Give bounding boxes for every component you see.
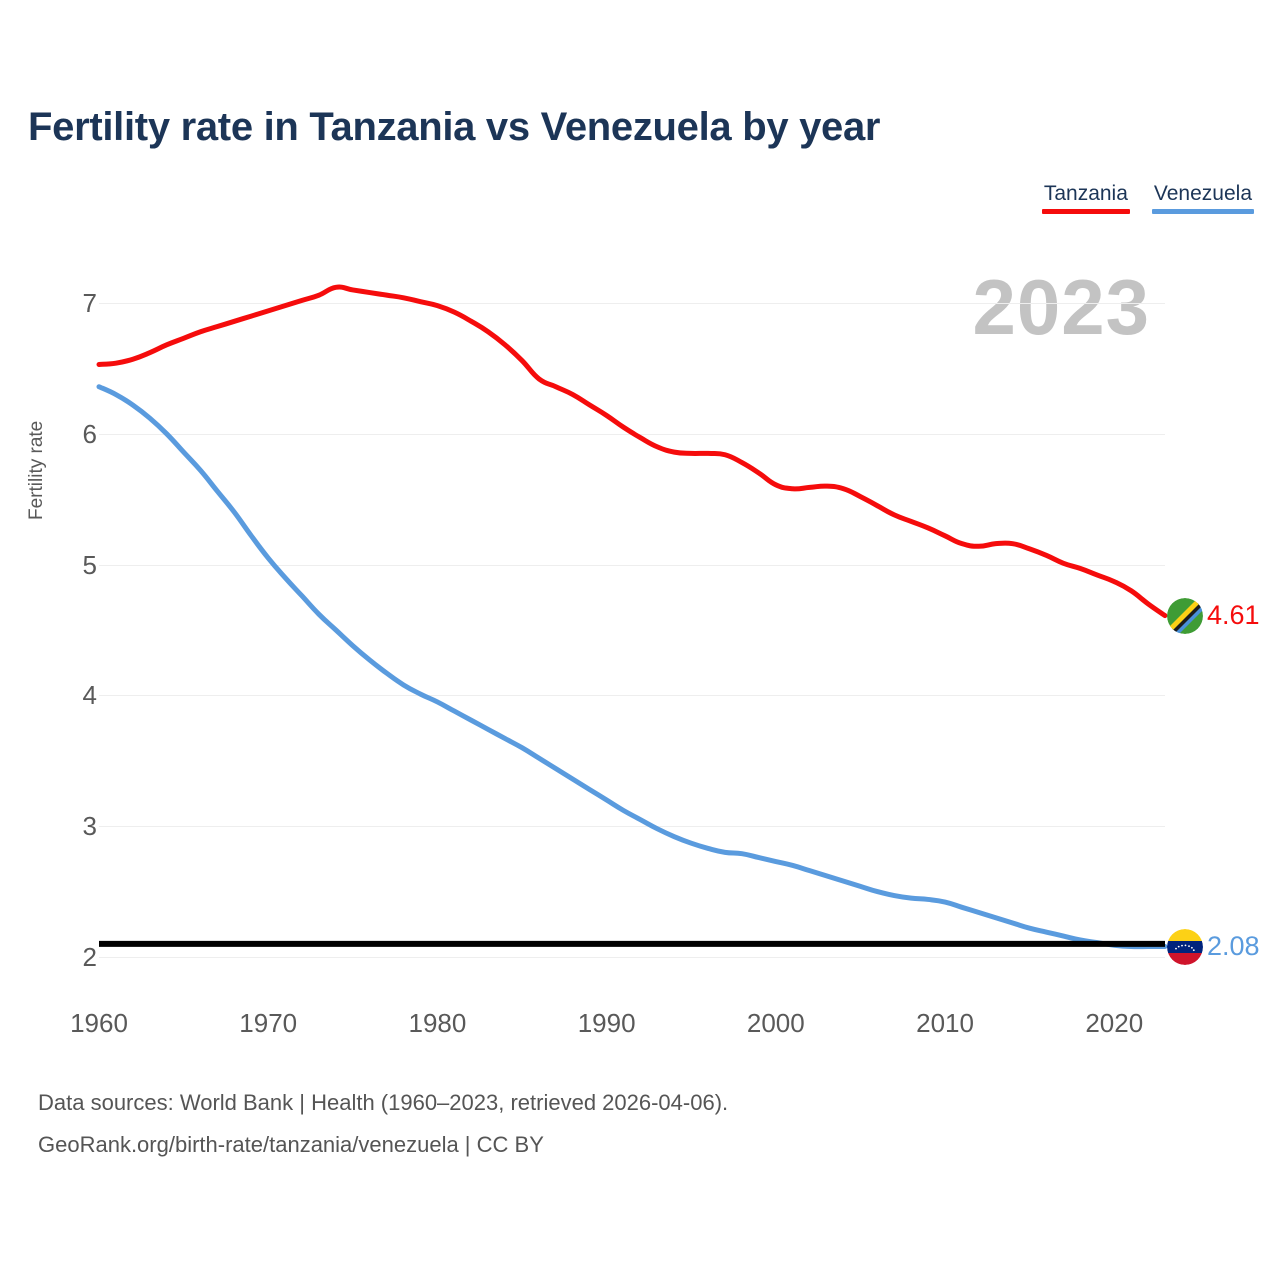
legend-label-tanzania: Tanzania	[1042, 182, 1130, 206]
legend: Tanzania Venezuela	[1042, 182, 1254, 214]
tanzania-flag-icon	[1167, 598, 1203, 634]
x-tick-label: 1980	[408, 1008, 466, 1039]
y-tick-label: 5	[57, 550, 97, 581]
footer-line-2: GeoRank.org/birth-rate/tanzania/venezuel…	[38, 1124, 728, 1166]
y-tick-label: 3	[57, 811, 97, 842]
legend-swatch-tanzania	[1042, 209, 1130, 214]
end-marker-venezuela[interactable]: 2.08	[1167, 929, 1260, 965]
series-line-venezuela	[99, 387, 1165, 947]
end-marker-tanzania[interactable]: 4.61	[1167, 598, 1260, 634]
legend-item-tanzania[interactable]: Tanzania	[1042, 182, 1130, 214]
gridline	[99, 957, 1165, 958]
series-lines	[99, 303, 1165, 957]
x-tick-label: 2020	[1085, 1008, 1143, 1039]
end-value-tanzania: 4.61	[1207, 602, 1260, 629]
legend-item-venezuela[interactable]: Venezuela	[1152, 182, 1254, 214]
chart-page: Fertility rate in Tanzania vs Venezuela …	[0, 0, 1280, 1280]
end-value-venezuela: 2.08	[1207, 933, 1260, 960]
x-tick-label: 1960	[70, 1008, 128, 1039]
y-tick-label: 7	[57, 288, 97, 319]
legend-swatch-venezuela	[1152, 209, 1254, 214]
x-tick-label: 2000	[747, 1008, 805, 1039]
y-tick-label: 4	[57, 680, 97, 711]
y-tick-label: 2	[57, 942, 97, 973]
series-line-tanzania	[99, 287, 1165, 616]
x-tick-label: 2010	[916, 1008, 974, 1039]
legend-label-venezuela: Venezuela	[1152, 182, 1254, 206]
y-tick-label: 6	[57, 419, 97, 450]
y-axis-label: Fertility rate	[26, 421, 48, 520]
footer-line-1: Data sources: World Bank | Health (1960–…	[38, 1082, 728, 1124]
x-tick-label: 1990	[578, 1008, 636, 1039]
x-tick-label: 1970	[239, 1008, 297, 1039]
venezuela-flag-icon	[1167, 929, 1203, 965]
plot-area	[99, 303, 1165, 957]
page-title: Fertility rate in Tanzania vs Venezuela …	[28, 105, 880, 150]
footer: Data sources: World Bank | Health (1960–…	[38, 1082, 728, 1166]
